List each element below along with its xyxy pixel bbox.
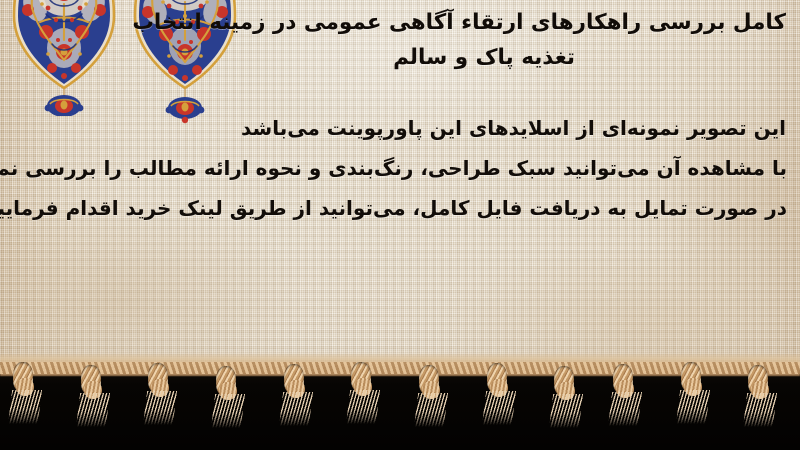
tassel-threads <box>346 390 380 424</box>
tassel-threads <box>279 392 313 426</box>
tassel-threads <box>549 394 583 428</box>
tassel-threads <box>76 393 110 427</box>
carpet-tassel <box>275 362 319 428</box>
slide-body-line-2: با مشاهده آن می‌توانید سبک طراحی، رنگ‌بن… <box>2 148 788 188</box>
tassel-threads <box>8 390 42 424</box>
slide-body-line-3: در صورت تمایل به دریافت فایل کامل، می‌تو… <box>2 188 788 228</box>
tassel-threads <box>676 390 710 424</box>
slide-title-line-1: کامل بررسی راهکارهای ارتقاء آگاهی عمومی … <box>186 5 786 40</box>
tassel-threads <box>608 392 642 426</box>
carpet-tassel <box>672 360 716 426</box>
tassel-threads <box>743 393 777 427</box>
tassel-threads <box>482 391 516 425</box>
carpet-tassel <box>410 363 454 429</box>
carpet-tassel <box>342 360 386 426</box>
carpet-tassel <box>478 361 522 427</box>
slide-title: کامل بررسی راهکارهای ارتقاء آگاهی عمومی … <box>186 5 786 75</box>
slide-text-layer: کامل بررسی راهکارهای ارتقاء آگاهی عمومی … <box>0 0 800 374</box>
tassel-threads <box>211 394 245 428</box>
presentation-slide: کامل بررسی راهکارهای ارتقاء آگاهی عمومی … <box>0 0 800 450</box>
carpet-tassel <box>4 360 48 426</box>
slide-title-line-2: تغذیه پاک و سالم <box>186 40 786 75</box>
slide-body-text: این تصویر نمونه‌ای از اسلایدهای این پاور… <box>2 108 788 228</box>
carpet-tassel <box>72 363 116 429</box>
tassel-threads <box>414 393 448 427</box>
slide-body-line-1: این تصویر نمونه‌ای از اسلایدهای این پاور… <box>2 108 788 148</box>
carpet-tassel-fringe <box>0 360 800 430</box>
carpet-tassel <box>604 362 648 428</box>
carpet-tassel <box>139 361 183 427</box>
carpet-tassel <box>545 364 589 430</box>
tassel-threads <box>143 391 177 425</box>
carpet-tassel <box>207 364 251 430</box>
carpet-tassel <box>739 363 783 429</box>
